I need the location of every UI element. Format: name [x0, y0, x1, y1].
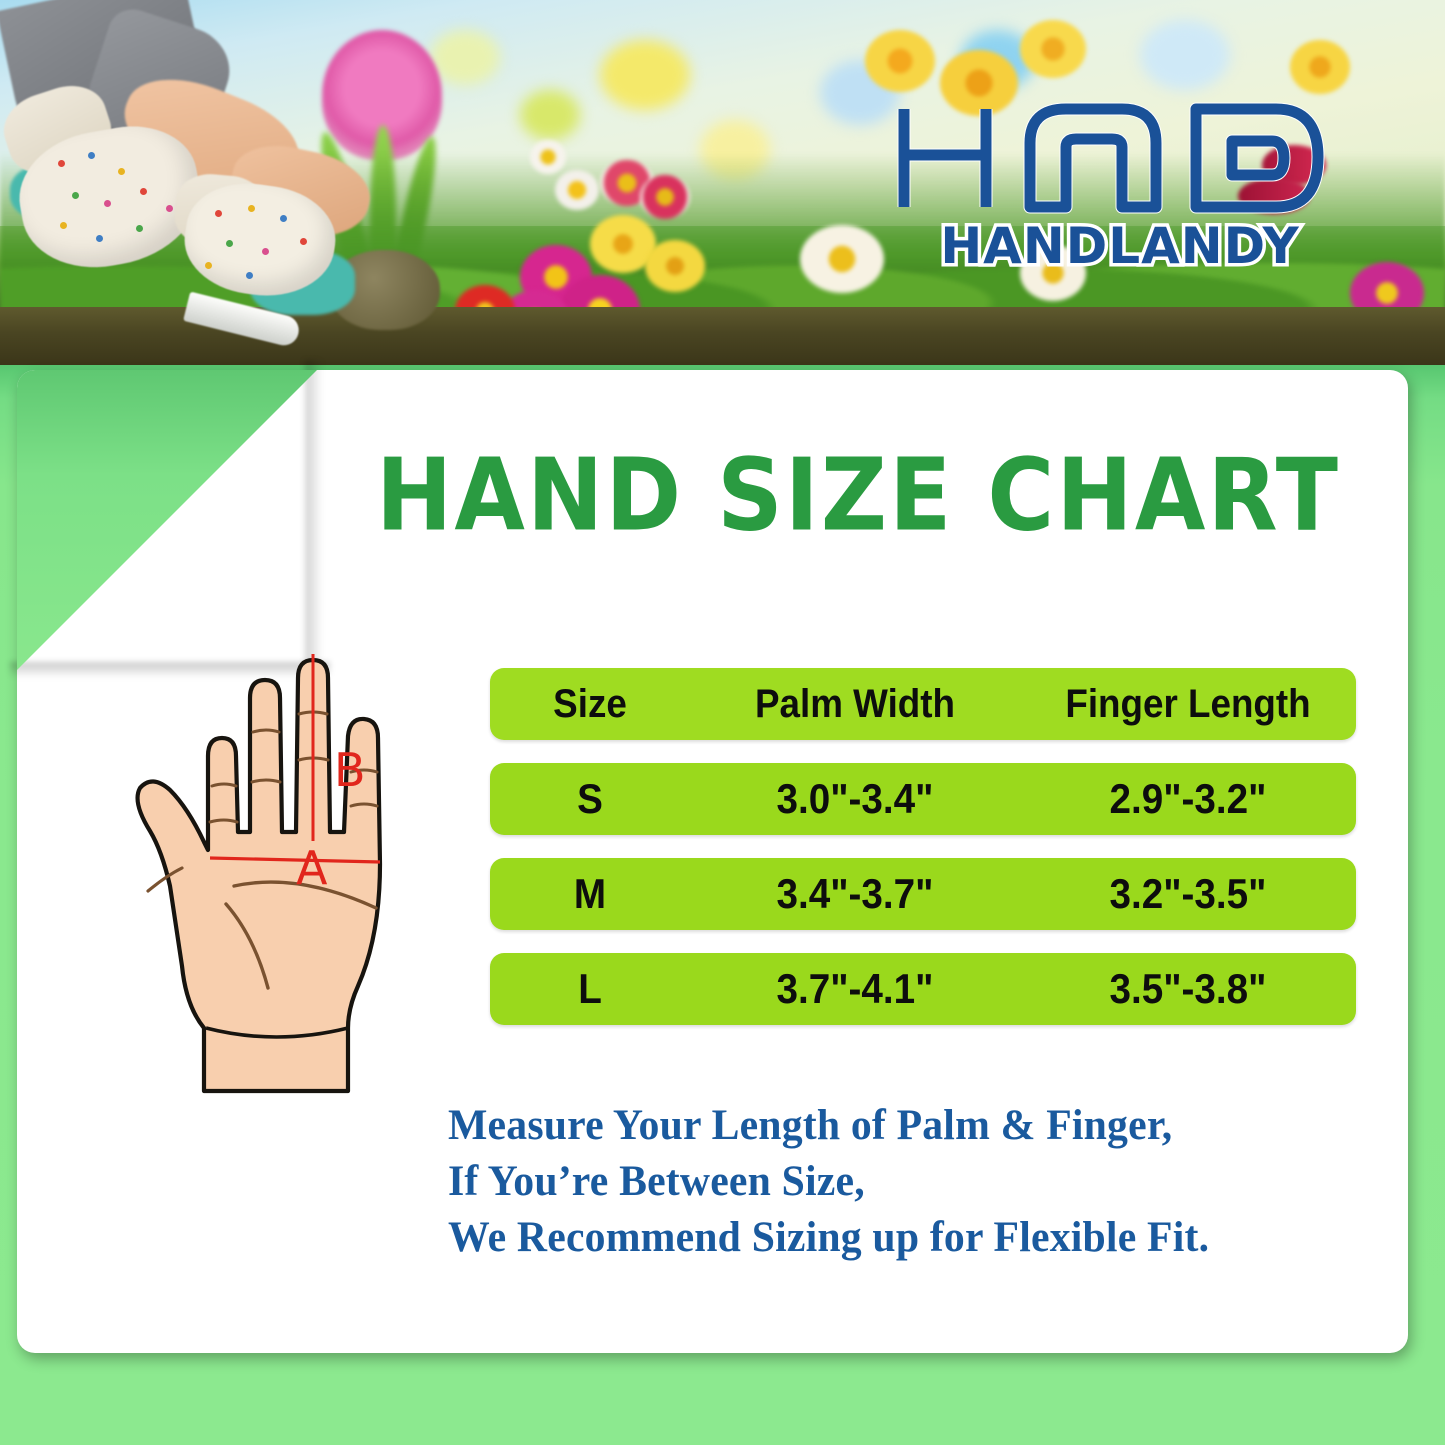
- glove-dot: [246, 272, 253, 279]
- glove-dot: [248, 205, 255, 212]
- glove-dot: [215, 210, 222, 217]
- daisy-blob: [640, 175, 690, 219]
- glove-dot: [96, 235, 103, 242]
- label-a: A: [296, 841, 328, 895]
- glove-dot: [166, 205, 173, 212]
- hand-size-chart-page: HANDLANDY HAND SIZE CHART: [0, 0, 1445, 1445]
- glove-dot: [118, 168, 125, 175]
- bg-flower-blob: [520, 90, 580, 140]
- bg-flower-blob: [600, 40, 690, 110]
- column-header-palm-width: Palm Width: [703, 683, 1007, 725]
- gardening-hero-photo: HANDLANDY: [0, 0, 1445, 365]
- cell-size: M: [498, 873, 682, 915]
- yellow-primrose-blob: [645, 240, 705, 292]
- glove-dot: [104, 200, 111, 207]
- bg-flower-blob: [1140, 20, 1230, 90]
- cell-palm-width: 3.4"-3.7": [703, 873, 1007, 915]
- glove-dot: [280, 215, 287, 222]
- glove-dot: [60, 222, 67, 229]
- daffodil-blob: [1020, 20, 1086, 78]
- glove-dot: [262, 248, 269, 255]
- handlandy-logo: HANDLANDY: [890, 95, 1350, 275]
- bg-flower-blob: [430, 30, 500, 85]
- cell-finger-length: 3.5"-3.8": [1033, 968, 1342, 1010]
- glove-dot: [300, 238, 307, 245]
- cell-finger-length: 3.2"-3.5": [1033, 873, 1342, 915]
- white-primrose-blob: [800, 225, 884, 293]
- daisy-blob: [555, 170, 599, 210]
- glove-dot: [72, 192, 79, 199]
- note-line-3: We Recommend Sizing up for Flexible Fit.: [448, 1210, 1350, 1266]
- daisy-blob: [530, 140, 566, 174]
- cell-palm-width: 3.7"-4.1": [703, 968, 1007, 1010]
- column-header-size: Size: [498, 683, 682, 725]
- hand-measurement-diagram: B A: [108, 636, 468, 1096]
- column-header-finger-length: Finger Length: [1033, 683, 1342, 725]
- glove-dot: [136, 225, 143, 232]
- note-line-2: If You’re Between Size,: [448, 1154, 1350, 1210]
- daffodil-blob: [865, 30, 935, 92]
- cell-size: L: [498, 968, 682, 1010]
- cell-finger-length: 2.9"-3.2": [1033, 778, 1342, 820]
- logo-wordmark: HANDLANDY: [940, 217, 1299, 275]
- note-line-1: Measure Your Length of Palm & Finger,: [448, 1098, 1350, 1154]
- table-row: S 3.0"-3.4" 2.9"-3.2": [490, 763, 1356, 835]
- label-b: B: [334, 743, 366, 797]
- page-title: HAND SIZE CHART: [317, 440, 1398, 551]
- cell-size: S: [498, 778, 682, 820]
- glove-dot: [205, 262, 212, 269]
- glove-dot: [140, 188, 147, 195]
- glove-dot: [58, 160, 65, 167]
- table-row: M 3.4"-3.7" 3.2"-3.5": [490, 858, 1356, 930]
- cell-palm-width: 3.0"-3.4": [703, 778, 1007, 820]
- table-row: L 3.7"-4.1" 3.5"-3.8": [490, 953, 1356, 1025]
- glove-dot: [226, 240, 233, 247]
- size-table: Size Palm Width Finger Length S 3.0"-3.4…: [490, 668, 1356, 1048]
- table-header-row: Size Palm Width Finger Length: [490, 668, 1356, 740]
- measurement-note: Measure Your Length of Palm & Finger, If…: [448, 1098, 1378, 1266]
- daffodil-blob: [1290, 40, 1350, 94]
- glove-dot: [88, 152, 95, 159]
